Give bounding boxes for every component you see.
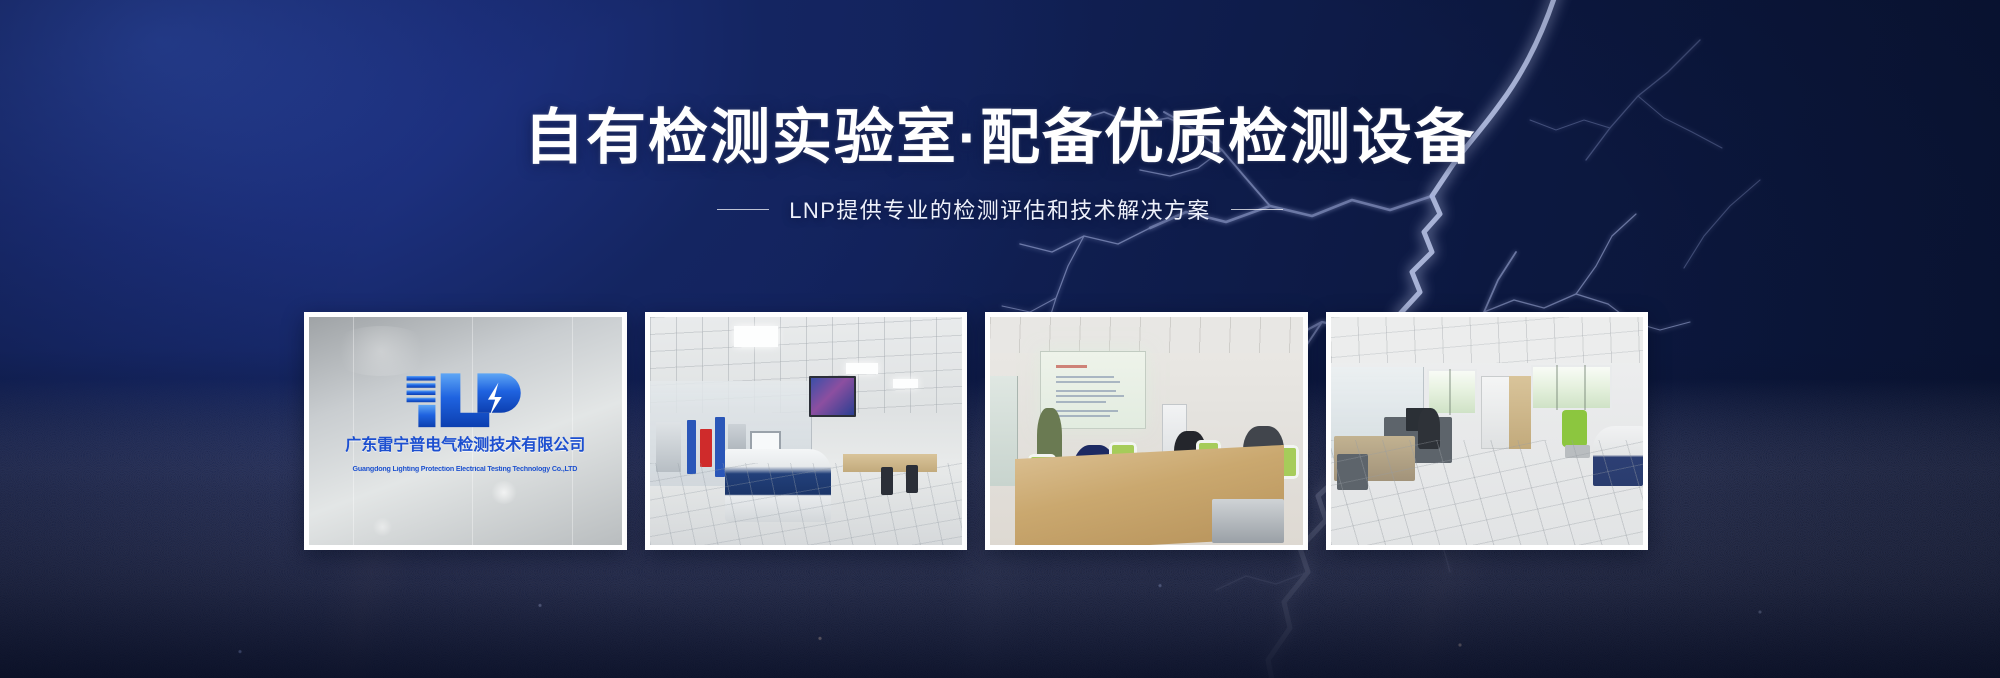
rule-left-icon — [717, 209, 769, 210]
meeting-door — [990, 376, 1018, 485]
office-ceiling — [1331, 317, 1644, 363]
photo-gallery: 广东雷宁普电气检测技术有限公司 Guangdong Lighting Prote… — [304, 312, 1648, 550]
company-name-en: Guangdong Lighting Protection Electrical… — [315, 466, 615, 473]
company-sign-photo[interactable]: 广东雷宁普电气检测技术有限公司 Guangdong Lighting Prote… — [304, 312, 627, 550]
page-title: 自有检测实验室·配备优质检测设备 — [0, 104, 2000, 171]
laptop — [1212, 499, 1284, 542]
office-image — [1331, 317, 1644, 545]
subtitle-row: LNP提供专业的检测评估和技术解决方案 — [0, 193, 2000, 225]
lnp-logo-icon — [400, 369, 531, 433]
banner-text-block: 自有检测实验室·配备优质检测设备 LNP提供专业的检测评估和技术解决方案 — [0, 104, 2000, 225]
office-floor — [1331, 440, 1644, 545]
company-sign-image: 广东雷宁普电气检测技术有限公司 Guangdong Lighting Prote… — [309, 317, 622, 545]
laboratory-photo[interactable] — [645, 312, 968, 550]
meeting-ceiling — [990, 317, 1303, 353]
office-window-right — [1531, 365, 1612, 411]
lab-wall-monitor — [809, 376, 856, 417]
company-name-cn: 广东雷宁普电气检测技术有限公司 — [322, 438, 610, 454]
page-subtitle: LNP提供专业的检测评估和技术解决方案 — [789, 193, 1210, 225]
laboratory-image — [650, 317, 963, 545]
office-cabinet — [1481, 376, 1512, 449]
office-shelf — [1509, 376, 1531, 449]
office-window-left — [1427, 369, 1477, 415]
meeting-room-image — [990, 317, 1303, 545]
meeting-room-photo[interactable] — [985, 312, 1308, 550]
rule-right-icon — [1231, 209, 1283, 210]
office-photo[interactable] — [1326, 312, 1649, 550]
hero-banner: 自有检测实验室·配备优质检测设备 LNP提供专业的检测评估和技术解决方案 — [0, 0, 2000, 678]
